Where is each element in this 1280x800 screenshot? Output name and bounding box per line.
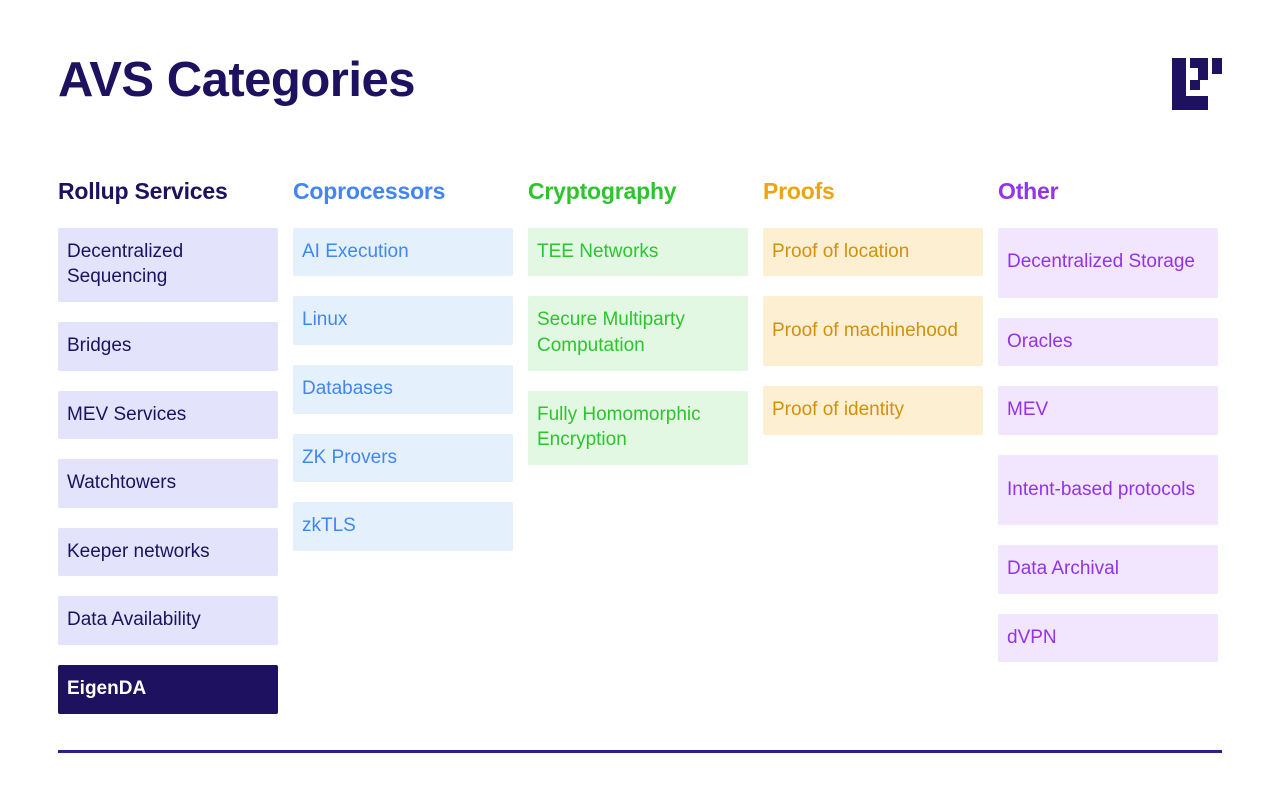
category-chip-label: Secure Multiparty Computation bbox=[537, 307, 739, 358]
category-column-other: OtherDecentralized StorageOraclesMEVInte… bbox=[998, 178, 1218, 662]
category-chip-label: Bridges bbox=[67, 333, 131, 359]
chip-list-coprocessors: AI ExecutionLinuxDatabasesZK ProverszkTL… bbox=[293, 228, 513, 551]
category-chip[interactable]: Keeper networks bbox=[58, 528, 278, 577]
category-chip[interactable]: zkTLS bbox=[293, 502, 513, 551]
column-header-rollup-services: Rollup Services bbox=[58, 178, 278, 206]
category-chip[interactable]: TEE Networks bbox=[528, 228, 748, 277]
category-chip[interactable]: Data Availability bbox=[58, 596, 278, 645]
category-chip-label: zkTLS bbox=[302, 513, 356, 539]
slide-canvas: AVS Categories Rollup ServicesDecentrali… bbox=[0, 0, 1280, 800]
category-chip-label: Proof of machinehood bbox=[772, 318, 958, 344]
category-chip-label: Proof of identity bbox=[772, 397, 904, 423]
category-chip[interactable]: Bridges bbox=[58, 322, 278, 371]
category-chip[interactable]: Fully Homomorphic Encryption bbox=[528, 391, 748, 465]
category-column-coprocessors: CoprocessorsAI ExecutionLinuxDatabasesZK… bbox=[293, 178, 513, 551]
category-chip-label: EigenDA bbox=[67, 676, 146, 702]
category-chip[interactable]: Oracles bbox=[998, 318, 1218, 367]
category-chip-label: MEV Services bbox=[67, 402, 186, 428]
category-chip[interactable]: Databases bbox=[293, 365, 513, 414]
chip-list-proofs: Proof of locationProof of machinehoodPro… bbox=[763, 228, 983, 435]
category-chip-label: Keeper networks bbox=[67, 539, 210, 565]
category-chip[interactable]: MEV Services bbox=[58, 391, 278, 440]
category-chip[interactable]: Watchtowers bbox=[58, 459, 278, 508]
category-chip-label: AI Execution bbox=[302, 239, 409, 265]
category-chip[interactable]: Decentralized Sequencing bbox=[58, 228, 278, 302]
category-chip-label: TEE Networks bbox=[537, 239, 658, 265]
category-chip-label: dVPN bbox=[1007, 625, 1057, 651]
category-chip-label: Fully Homomorphic Encryption bbox=[537, 402, 739, 453]
category-chip[interactable]: Proof of location bbox=[763, 228, 983, 277]
column-header-cryptography: Cryptography bbox=[528, 178, 748, 206]
category-chip[interactable]: Linux bbox=[293, 296, 513, 345]
footer-rule bbox=[58, 750, 1222, 753]
slide-header: AVS Categories bbox=[58, 52, 1222, 124]
category-chip-label: Decentralized Storage bbox=[1007, 249, 1195, 275]
category-chip[interactable]: ZK Provers bbox=[293, 434, 513, 483]
category-chip[interactable]: dVPN bbox=[998, 614, 1218, 663]
category-chip[interactable]: Proof of machinehood bbox=[763, 296, 983, 366]
category-chip-label: Intent-based protocols bbox=[1007, 477, 1195, 503]
category-chip-label: Linux bbox=[302, 307, 347, 333]
category-column-proofs: ProofsProof of locationProof of machineh… bbox=[763, 178, 983, 435]
chip-list-other: Decentralized StorageOraclesMEVIntent-ba… bbox=[998, 228, 1218, 663]
chip-list-rollup-services: Decentralized SequencingBridgesMEV Servi… bbox=[58, 228, 278, 714]
chip-list-cryptography: TEE NetworksSecure Multiparty Computatio… bbox=[528, 228, 748, 465]
category-chip-label: Databases bbox=[302, 376, 393, 402]
category-chip-label: Data Archival bbox=[1007, 556, 1119, 582]
category-chip-label: MEV bbox=[1007, 397, 1048, 423]
category-chip[interactable]: Proof of identity bbox=[763, 386, 983, 435]
column-header-proofs: Proofs bbox=[763, 178, 983, 206]
category-columns: Rollup ServicesDecentralized SequencingB… bbox=[58, 178, 1222, 714]
category-chip[interactable]: Secure Multiparty Computation bbox=[528, 296, 748, 370]
category-chip[interactable]: MEV bbox=[998, 386, 1218, 435]
eigenlayer-logo-icon bbox=[1172, 58, 1222, 110]
category-chip-label: Watchtowers bbox=[67, 470, 176, 496]
category-chip-label: ZK Provers bbox=[302, 445, 397, 471]
page-title: AVS Categories bbox=[58, 52, 1222, 108]
category-chip-label: Oracles bbox=[1007, 329, 1072, 355]
category-chip[interactable]: Decentralized Storage bbox=[998, 228, 1218, 298]
category-chip-label: Data Availability bbox=[67, 607, 201, 633]
category-chip[interactable]: EigenDA bbox=[58, 665, 278, 714]
column-header-coprocessors: Coprocessors bbox=[293, 178, 513, 206]
category-chip[interactable]: Intent-based protocols bbox=[998, 455, 1218, 525]
category-chip[interactable]: AI Execution bbox=[293, 228, 513, 277]
category-chip[interactable]: Data Archival bbox=[998, 545, 1218, 594]
column-header-other: Other bbox=[998, 178, 1218, 206]
category-column-cryptography: CryptographyTEE NetworksSecure Multipart… bbox=[528, 178, 748, 465]
category-chip-label: Decentralized Sequencing bbox=[67, 239, 269, 290]
category-chip-label: Proof of location bbox=[772, 239, 909, 265]
category-column-rollup-services: Rollup ServicesDecentralized SequencingB… bbox=[58, 178, 278, 714]
